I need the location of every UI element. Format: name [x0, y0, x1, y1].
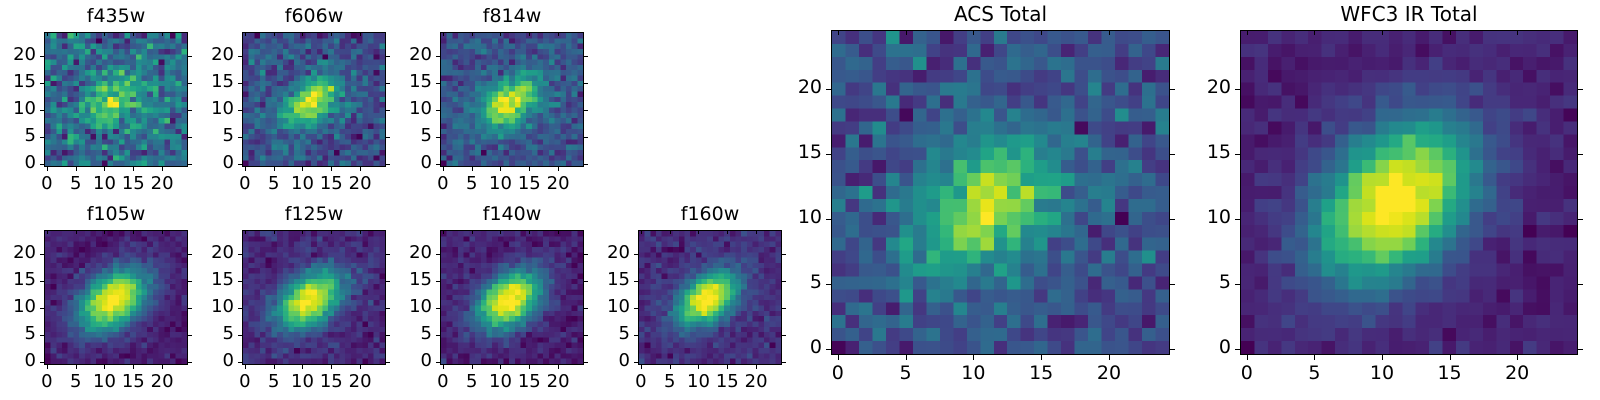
xtick-mark-top: [1247, 30, 1248, 35]
ytick-mark: [1235, 284, 1240, 285]
xtick-mark: [1247, 355, 1248, 360]
ytick-mark: [1235, 219, 1240, 220]
xtick-label: 10: [1352, 364, 1412, 383]
panel-wfc3-ir-total: WFC3 IR Total0510152005101520: [0, 0, 1600, 400]
xtick-label: 0: [1217, 364, 1277, 383]
heatmap-image-wfc3-ir-total: [1241, 31, 1577, 354]
ytick-mark: [1235, 349, 1240, 350]
ytick-label: 10: [1171, 208, 1231, 227]
ytick-mark-right: [1578, 154, 1583, 155]
xtick-mark-top: [1517, 30, 1518, 35]
ytick-mark-right: [1578, 219, 1583, 220]
xtick-mark: [1517, 355, 1518, 360]
xtick-mark: [1382, 355, 1383, 360]
figure-canvas: f435w0510152005101520f606w05101520051015…: [0, 0, 1600, 400]
xtick-label: 5: [1284, 364, 1344, 383]
xtick-label: 20: [1487, 364, 1547, 383]
ytick-label: 0: [1171, 338, 1231, 357]
panel-title-wfc3-ir-total: WFC3 IR Total: [1240, 4, 1578, 24]
xtick-mark: [1450, 355, 1451, 360]
ytick-mark-right: [1578, 89, 1583, 90]
ytick-mark-right: [1578, 349, 1583, 350]
ytick-label: 15: [1171, 143, 1231, 162]
xtick-mark: [1314, 355, 1315, 360]
heatmap-axes-wfc3-ir-total: [1240, 30, 1578, 355]
xtick-mark-top: [1382, 30, 1383, 35]
ytick-mark: [1235, 154, 1240, 155]
ytick-mark-right: [1578, 284, 1583, 285]
xtick-mark-top: [1450, 30, 1451, 35]
ytick-label: 5: [1171, 273, 1231, 292]
ytick-mark: [1235, 89, 1240, 90]
ytick-label: 20: [1171, 78, 1231, 97]
xtick-mark-top: [1314, 30, 1315, 35]
xtick-label: 15: [1420, 364, 1480, 383]
